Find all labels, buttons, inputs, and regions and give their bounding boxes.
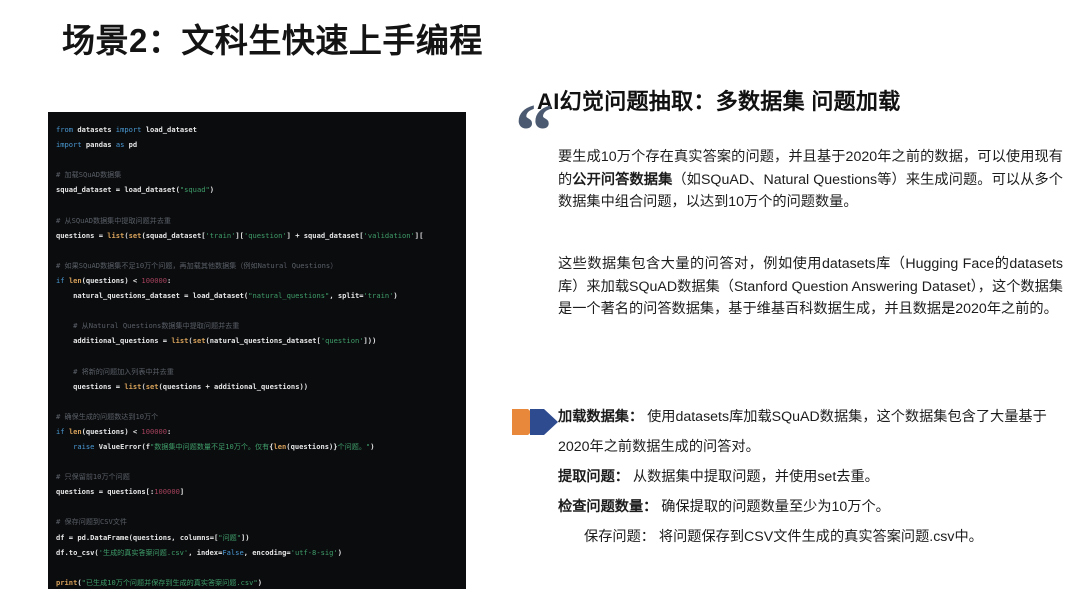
code-token: raise bbox=[56, 442, 99, 451]
code-token: # 从SQuAD数据集中提取问题并去重 bbox=[56, 216, 171, 225]
code-token: list bbox=[107, 231, 124, 240]
bullet-label: 加载数据集： bbox=[558, 409, 643, 425]
code-line: df = pd.DataFrame(questions, columns=["问… bbox=[56, 530, 466, 545]
code-line: squad_dataset = load_dataset("squad") bbox=[56, 182, 466, 197]
code-line: # 保存问题到CSV文件 bbox=[56, 514, 466, 529]
code-token: set bbox=[129, 231, 142, 240]
code-line: questions = list(set(questions + additio… bbox=[56, 379, 466, 394]
code-line bbox=[56, 454, 466, 469]
code-token: len bbox=[69, 276, 82, 285]
code-token: ) bbox=[393, 291, 397, 300]
code-line bbox=[56, 394, 466, 409]
code-token: import bbox=[116, 125, 146, 134]
code-token: load_dataset bbox=[146, 125, 197, 134]
code-token: additional_questions = bbox=[56, 336, 171, 345]
code-token: 100000 bbox=[154, 487, 180, 496]
bullet-item: 检查问题数量： 确保提取的问题数量至少为10万个。 bbox=[558, 492, 1066, 522]
code-token: "数据集中问题数量不足10万个。仅有 bbox=[150, 442, 269, 451]
code-token: "已生成10万个问题并保存到生成的真实答案问题.csv" bbox=[82, 578, 258, 587]
bullet-item: 提取问题： 从数据集中提取问题，并使用set去重。 bbox=[558, 462, 1066, 492]
right-column: AI幻觉问题抽取：多数据集 问题加载 “ 要生成10万个存在真实答案的问题，并且… bbox=[505, 84, 1065, 594]
code-token: 100000 bbox=[141, 276, 167, 285]
bullet-text: 从数据集中提取问题，并使用set去重。 bbox=[629, 469, 879, 485]
code-token: ] + squad_dataset[ bbox=[287, 231, 364, 240]
code-line: # 从SQuAD数据集中提取问题并去重 bbox=[56, 213, 466, 228]
code-token: pd bbox=[129, 140, 138, 149]
quote-mark-icon: “ bbox=[515, 111, 553, 151]
code-line: raise ValueError(f"数据集中问题数量不足10万个。仅有{len… bbox=[56, 439, 466, 454]
code-token: natural_questions_dataset = load_dataset… bbox=[56, 291, 248, 300]
section-heading: AI幻觉问题抽取：多数据集 问题加载 bbox=[537, 84, 901, 116]
code-token: list bbox=[124, 382, 141, 391]
bullet-text: 确保提取的问题数量至少为10万个。 bbox=[657, 499, 890, 515]
code-line bbox=[56, 152, 466, 167]
code-token: set bbox=[146, 382, 159, 391]
code-token: import bbox=[56, 140, 86, 149]
code-token: : bbox=[167, 276, 171, 285]
code-line: questions = questions[:100000] bbox=[56, 484, 466, 499]
code-line: questions = list(set(squad_dataset['trai… bbox=[56, 228, 466, 243]
paragraph-one: 要生成10万个存在真实答案的问题，并且基于2020年之前的数据，可以使用现有的公… bbox=[558, 146, 1063, 214]
code-line: import pandas as pd bbox=[56, 137, 466, 152]
page-title: 场景2：文科生快速上手编程 bbox=[62, 14, 483, 62]
code-token: datasets bbox=[77, 125, 115, 134]
code-token: ) bbox=[210, 185, 214, 194]
paragraph-two: 这些数据集包含大量的问答对，例如使用datasets库（Hugging Face… bbox=[558, 253, 1063, 321]
code-token: df = pd.DataFrame(questions, columns=[ bbox=[56, 533, 218, 542]
bullet-label: 保存问题： bbox=[584, 529, 655, 545]
code-token: print bbox=[56, 578, 77, 587]
code-token: ]) bbox=[241, 533, 250, 542]
code-token: squad_dataset = load_dataset( bbox=[56, 185, 180, 194]
code-line: natural_questions_dataset = load_dataset… bbox=[56, 288, 466, 303]
code-line bbox=[56, 348, 466, 363]
code-token: len bbox=[69, 427, 82, 436]
code-token: ])) bbox=[364, 336, 377, 345]
code-token: # 只保留前10万个问题 bbox=[56, 472, 130, 481]
code-line bbox=[56, 197, 466, 212]
paragraph-one-emphasis: 公开问答数据集 bbox=[572, 172, 672, 188]
code-line bbox=[56, 303, 466, 318]
code-token: 个问题。" bbox=[338, 442, 371, 451]
code-token: 'validation' bbox=[364, 231, 415, 240]
bullet-item: 加载数据集： 使用datasets库加载SQuAD数据集，这个数据集包含了大量基… bbox=[558, 402, 1066, 462]
code-line: # 如果SQuAD数据集不足10万个问题，再加载其他数据集（例如Natural … bbox=[56, 258, 466, 273]
code-token: if bbox=[56, 427, 69, 436]
bullet-label: 检查问题数量： bbox=[558, 499, 657, 515]
code-token: '生成的真实答案问题.csv' bbox=[99, 548, 188, 557]
code-token: pandas bbox=[86, 140, 116, 149]
bullet-label: 提取问题： bbox=[558, 469, 629, 485]
code-token: 'question' bbox=[321, 336, 364, 345]
code-token: # 从Natural Questions数据集中提取问题并去重 bbox=[56, 321, 239, 330]
code-line: if len(questions) < 100000: bbox=[56, 424, 466, 439]
code-line: df.to_csv('生成的真实答案问题.csv', index=False, … bbox=[56, 545, 466, 560]
code-token: , index= bbox=[188, 548, 222, 557]
code-token: ][ bbox=[415, 231, 424, 240]
code-token: 'utf-8-sig' bbox=[291, 548, 338, 557]
double-chevron-right-icon bbox=[510, 406, 560, 438]
code-token: df.to_csv( bbox=[56, 548, 99, 557]
code-token: # 确保生成的问题数达到10万个 bbox=[56, 412, 158, 421]
code-token: 100000 bbox=[141, 427, 167, 436]
code-token: (questions) < bbox=[82, 276, 142, 285]
code-token: , encoding= bbox=[244, 548, 291, 557]
code-token: (squad_dataset[ bbox=[141, 231, 205, 240]
code-token: (questions)} bbox=[286, 442, 337, 451]
code-token: ValueError bbox=[99, 442, 142, 451]
code-token: ) bbox=[370, 442, 374, 451]
bullet-item: 保存问题： 将问题保存到CSV文件生成的真实答案问题.csv中。 bbox=[558, 522, 1066, 552]
code-token: False bbox=[222, 548, 243, 557]
code-line bbox=[56, 560, 466, 575]
code-content: from datasets import load_datasetimport … bbox=[48, 112, 466, 589]
code-token: len bbox=[273, 442, 286, 451]
code-line: from datasets import load_dataset bbox=[56, 122, 466, 137]
bullet-text: 将问题保存到CSV文件生成的真实答案问题.csv中。 bbox=[655, 529, 983, 545]
code-line: if len(questions) < 100000: bbox=[56, 273, 466, 288]
code-line: # 将新的问题加入列表中并去重 bbox=[56, 364, 466, 379]
code-token: questions = bbox=[56, 382, 124, 391]
code-token: # 如果SQuAD数据集不足10万个问题，再加载其他数据集（例如Natural … bbox=[56, 261, 337, 270]
code-token: questions = bbox=[56, 231, 107, 240]
code-token: 'question' bbox=[244, 231, 287, 240]
code-token: # 将新的问题加入列表中并去重 bbox=[56, 367, 174, 376]
code-token: set bbox=[193, 336, 206, 345]
code-line bbox=[56, 243, 466, 258]
code-line bbox=[56, 499, 466, 514]
code-token: (f bbox=[141, 442, 150, 451]
code-token: as bbox=[116, 140, 129, 149]
code-line: additional_questions = list(set(natural_… bbox=[56, 333, 466, 348]
code-token: ) bbox=[338, 548, 342, 557]
code-token: "问题" bbox=[218, 533, 241, 542]
code-line: # 只保留前10万个问题 bbox=[56, 469, 466, 484]
code-token: # 加载SQuAD数据集 bbox=[56, 170, 121, 179]
code-line: # 确保生成的问题数达到10万个 bbox=[56, 409, 466, 424]
code-token: : bbox=[167, 427, 171, 436]
code-token: (natural_questions_dataset[ bbox=[206, 336, 321, 345]
code-panel: from datasets import load_datasetimport … bbox=[48, 112, 466, 589]
code-line: # 从Natural Questions数据集中提取问题并去重 bbox=[56, 318, 466, 333]
code-token: , split= bbox=[329, 291, 363, 300]
code-token: (questions + additional_questions)) bbox=[159, 382, 308, 391]
code-line: print("已生成10万个问题并保存到生成的真实答案问题.csv") bbox=[56, 575, 466, 589]
code-token: (questions) < bbox=[82, 427, 142, 436]
code-token: 'train' bbox=[206, 231, 236, 240]
code-token: "squad" bbox=[180, 185, 210, 194]
bullet-list: 加载数据集： 使用datasets库加载SQuAD数据集，这个数据集包含了大量基… bbox=[558, 402, 1066, 552]
code-token: questions = questions[: bbox=[56, 487, 154, 496]
code-token: if bbox=[56, 276, 69, 285]
code-token: ] bbox=[180, 487, 184, 496]
code-token: list bbox=[171, 336, 188, 345]
code-token: 'train' bbox=[364, 291, 394, 300]
code-token: # 保存问题到CSV文件 bbox=[56, 517, 127, 526]
code-token: from bbox=[56, 125, 77, 134]
code-line: # 加载SQuAD数据集 bbox=[56, 167, 466, 182]
code-token: ][ bbox=[235, 231, 244, 240]
code-token: "natural_questions" bbox=[248, 291, 329, 300]
code-token: ) bbox=[258, 578, 262, 587]
